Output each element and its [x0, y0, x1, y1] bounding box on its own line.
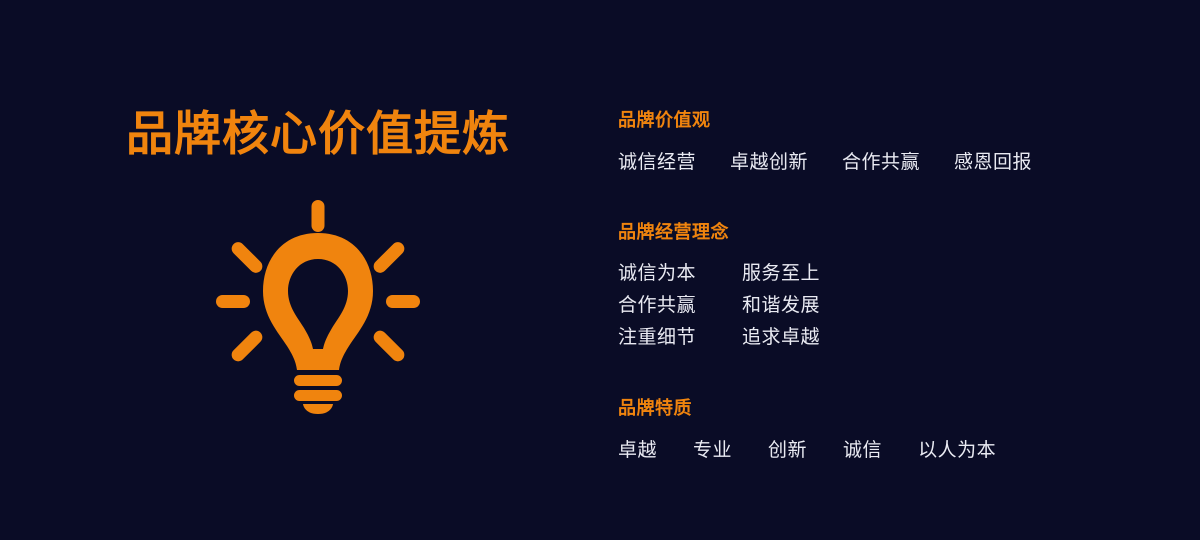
table-row: 合作共赢 和谐发展 — [618, 294, 820, 326]
grid-cell: 诚信为本 — [618, 262, 742, 286]
lightbulb-icon — [212, 196, 424, 414]
lightbulb-icon-graphic — [212, 196, 424, 414]
brand-philosophy-grid: 诚信为本 服务至上 合作共赢 和谐发展 注重细节 追求卓越 — [618, 262, 820, 358]
grid-cell: 服务至上 — [742, 262, 820, 286]
list-item: 诚信经营 — [618, 151, 696, 175]
section-heading-brand-traits: 品牌特质 — [618, 398, 996, 420]
grid-cell: 追求卓越 — [742, 326, 820, 350]
section-brand-traits: 品牌特质 卓越 专业 创新 诚信 以人为本 — [618, 398, 996, 462]
list-item: 感恩回报 — [954, 151, 1032, 175]
section-brand-philosophy: 品牌经营理念 诚信为本 服务至上 合作共赢 和谐发展 注重细节 追求卓越 — [618, 222, 820, 358]
section-heading-brand-philosophy: 品牌经营理念 — [618, 222, 820, 244]
list-item: 合作共赢 — [842, 151, 920, 175]
brand-traits-list: 卓越 专业 创新 诚信 以人为本 — [618, 439, 996, 463]
list-item: 诚信 — [843, 439, 882, 463]
section-brand-values: 品牌价值观 诚信经营 卓越创新 合作共赢 感恩回报 — [618, 110, 1032, 174]
list-item: 创新 — [768, 439, 807, 463]
grid-cell: 和谐发展 — [742, 294, 820, 318]
page-title: 品牌核心价值提炼 — [126, 108, 510, 160]
right-panel: 品牌价值观 诚信经营 卓越创新 合作共赢 感恩回报 品牌经营理念 诚信为本 服务… — [618, 0, 1178, 540]
table-row: 诚信为本 服务至上 — [618, 262, 820, 294]
slide-canvas: 品牌核心价值提炼 — [0, 0, 1200, 540]
table-row: 注重细节 追求卓越 — [618, 326, 820, 358]
left-panel: 品牌核心价值提炼 — [0, 0, 580, 540]
list-item: 专业 — [693, 439, 732, 463]
section-heading-brand-values: 品牌价值观 — [618, 110, 1032, 132]
grid-cell: 注重细节 — [618, 326, 742, 350]
list-item: 卓越 — [618, 439, 657, 463]
list-item: 以人为本 — [918, 439, 996, 463]
brand-values-list: 诚信经营 卓越创新 合作共赢 感恩回报 — [618, 151, 1032, 175]
grid-cell: 合作共赢 — [618, 294, 742, 318]
list-item: 卓越创新 — [730, 151, 808, 175]
